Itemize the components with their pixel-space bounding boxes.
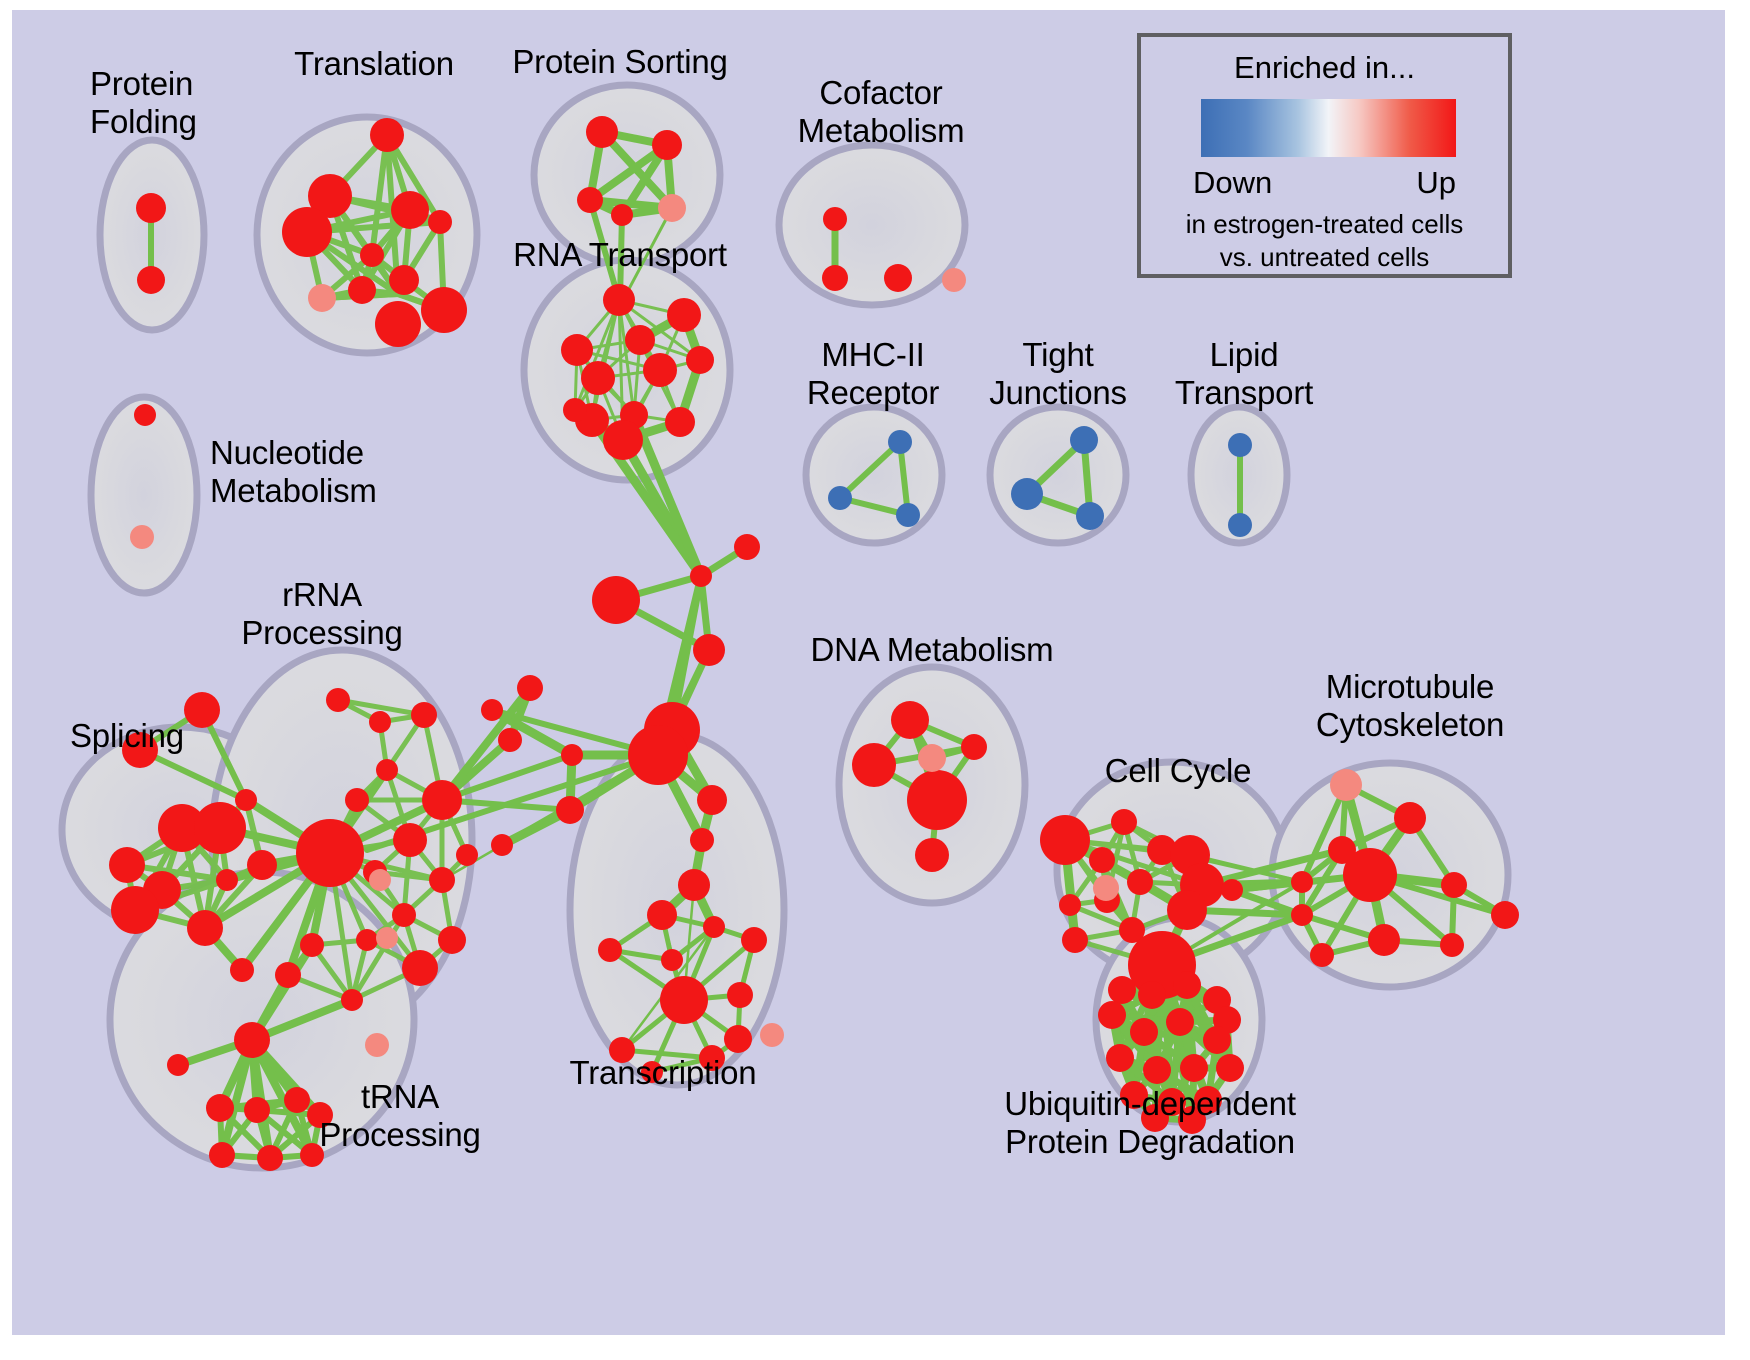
- node: [234, 1022, 270, 1058]
- node: [667, 298, 701, 332]
- node: [308, 284, 336, 312]
- node: [275, 962, 301, 988]
- hull-mhc-ii: [806, 407, 942, 543]
- node: [697, 785, 727, 815]
- node: [206, 1094, 234, 1122]
- cluster-label-protein-sorting: Protein Sorting: [512, 43, 727, 81]
- cluster-label-ubiquitin: Ubiquitin-dependentProtein Degradation: [1004, 1085, 1296, 1161]
- node: [1130, 1018, 1158, 1046]
- node: [678, 869, 710, 901]
- node: [376, 759, 398, 781]
- node: [235, 789, 257, 811]
- node: [658, 194, 686, 222]
- node: [822, 265, 848, 291]
- node: [727, 982, 753, 1008]
- node: [284, 1087, 310, 1113]
- node: [244, 1097, 270, 1123]
- node: [690, 828, 714, 852]
- node: [1108, 976, 1136, 1004]
- legend-subtitle-line2: vs. untreated cells: [1141, 242, 1508, 273]
- node: [1173, 971, 1201, 999]
- node: [376, 927, 398, 949]
- cluster-label-transcription: Transcription: [570, 1054, 757, 1092]
- legend-high-label: Up: [1416, 165, 1456, 201]
- node: [1106, 1044, 1134, 1072]
- node: [1330, 769, 1362, 801]
- node: [1011, 478, 1043, 510]
- legend-low-label: Down: [1193, 165, 1272, 201]
- cluster-label-splicing: Splicing: [70, 717, 184, 755]
- node: [136, 193, 166, 223]
- node: [1093, 875, 1119, 901]
- node: [111, 886, 159, 934]
- node: [888, 430, 912, 454]
- node: [852, 743, 896, 787]
- node: [134, 404, 156, 426]
- node: [896, 503, 920, 527]
- node: [907, 770, 967, 830]
- node: [429, 867, 455, 893]
- cluster-label-dna-metabolism: DNA Metabolism: [811, 631, 1054, 669]
- node: [1059, 894, 1081, 916]
- node: [561, 744, 583, 766]
- node: [603, 420, 643, 460]
- node: [137, 266, 165, 294]
- cluster-label-protein-folding: ProteinFolding: [90, 65, 197, 141]
- node: [563, 398, 587, 422]
- node: [375, 301, 421, 347]
- node: [184, 692, 220, 728]
- node: [556, 796, 584, 824]
- node: [1441, 872, 1467, 898]
- node: [611, 204, 633, 226]
- cluster-label-cofactor-metabolism: CofactorMetabolism: [798, 74, 965, 150]
- node: [690, 565, 712, 587]
- node: [247, 850, 277, 880]
- node: [109, 847, 145, 883]
- node: [365, 1033, 389, 1057]
- node: [391, 191, 429, 229]
- node: [438, 926, 466, 954]
- cluster-label-translation: Translation: [294, 45, 454, 83]
- node: [823, 207, 847, 231]
- node: [760, 1023, 784, 1047]
- node: [356, 929, 378, 951]
- cluster-label-cell-cycle: Cell Cycle: [1105, 752, 1252, 790]
- node: [1491, 901, 1519, 929]
- legend-title: Enriched in...: [1141, 50, 1508, 86]
- node: [1440, 933, 1464, 957]
- node: [370, 118, 404, 152]
- node: [187, 910, 223, 946]
- node: [194, 802, 246, 854]
- node: [216, 869, 238, 891]
- node: [1291, 871, 1313, 893]
- node: [130, 525, 154, 549]
- node: [561, 334, 593, 366]
- node: [942, 268, 966, 292]
- node: [1138, 981, 1166, 1009]
- node: [652, 130, 682, 160]
- node: [392, 903, 416, 927]
- node: [628, 725, 688, 785]
- node: [348, 276, 376, 304]
- node: [498, 728, 522, 752]
- node: [603, 284, 635, 316]
- node: [592, 576, 640, 624]
- cluster-label-mhc-ii-receptor: MHC-IIReceptor: [807, 336, 939, 412]
- node: [1216, 1054, 1244, 1082]
- node: [586, 116, 618, 148]
- cluster-label-lipid-transport: LipidTransport: [1175, 336, 1313, 412]
- node: [345, 788, 369, 812]
- node: [1111, 809, 1137, 835]
- node: [1368, 924, 1400, 956]
- node: [360, 243, 384, 267]
- node: [422, 780, 462, 820]
- node: [1228, 433, 1252, 457]
- node: [369, 869, 391, 891]
- node: [481, 699, 503, 721]
- node: [389, 265, 419, 295]
- node: [1228, 513, 1252, 537]
- node: [1089, 847, 1115, 873]
- node: [693, 634, 725, 666]
- node: [341, 989, 363, 1011]
- node: [517, 675, 543, 701]
- node: [665, 407, 695, 437]
- node: [428, 210, 452, 234]
- cluster-label-rrna-processing: rRNAProcessing: [241, 576, 402, 652]
- node: [1221, 879, 1243, 901]
- node: [1098, 1001, 1126, 1029]
- node: [1166, 1008, 1194, 1036]
- node: [1167, 890, 1207, 930]
- node: [282, 207, 332, 257]
- node: [369, 711, 391, 733]
- node: [411, 702, 437, 728]
- node: [660, 976, 708, 1024]
- node: [661, 949, 683, 971]
- node: [915, 838, 949, 872]
- node: [402, 950, 438, 986]
- node: [393, 823, 427, 857]
- node: [230, 958, 254, 982]
- node: [918, 744, 946, 772]
- node: [1343, 848, 1397, 902]
- node: [598, 938, 622, 962]
- node: [703, 916, 725, 938]
- node: [167, 1054, 189, 1076]
- node: [1203, 1026, 1231, 1054]
- node: [421, 287, 467, 333]
- node: [1062, 927, 1088, 953]
- node: [891, 701, 929, 739]
- node: [491, 834, 513, 856]
- node: [456, 844, 478, 866]
- node: [625, 325, 655, 355]
- cluster-label-trna-processing: tRNAProcessing: [319, 1078, 480, 1154]
- network-panel: ProteinFolding Translation Protein Sorti…: [12, 10, 1725, 1335]
- node: [577, 187, 603, 213]
- node: [1076, 502, 1104, 530]
- node: [741, 927, 767, 953]
- node: [647, 900, 677, 930]
- node: [581, 361, 615, 395]
- cluster-label-rna-transport: RNA Transport: [513, 236, 727, 274]
- cluster-label-microtubule-cytoskeleton: MicrotubuleCytoskeleton: [1316, 668, 1504, 744]
- node: [209, 1142, 235, 1168]
- node: [326, 688, 350, 712]
- legend-subtitle-line1: in estrogen-treated cells: [1141, 209, 1508, 240]
- node: [1070, 426, 1098, 454]
- node: [300, 933, 324, 957]
- node: [1310, 943, 1334, 967]
- cluster-label-nucleotide-metabolism: NucleotideMetabolism: [210, 434, 377, 510]
- node: [257, 1145, 283, 1171]
- node: [828, 486, 852, 510]
- node: [643, 353, 677, 387]
- hull-nucleotide-metabolism: [91, 397, 197, 593]
- hull-tight-junctions: [990, 407, 1126, 543]
- node: [961, 734, 987, 760]
- node: [724, 1025, 752, 1053]
- figure-canvas: ProteinFolding Translation Protein Sorti…: [0, 0, 1750, 1360]
- node: [884, 264, 912, 292]
- legend-box: Enriched in... Down Up in estrogen-treat…: [1137, 33, 1512, 278]
- node: [1040, 815, 1090, 865]
- legend-color-gradient-bar: [1201, 99, 1456, 157]
- node: [686, 346, 714, 374]
- hull-cofactor-metabolism: [779, 145, 965, 305]
- node: [1180, 1054, 1208, 1082]
- node: [1127, 869, 1153, 895]
- node: [1394, 802, 1426, 834]
- node: [1291, 904, 1313, 926]
- node: [296, 819, 364, 887]
- node: [1143, 1056, 1171, 1084]
- node: [734, 534, 760, 560]
- cluster-label-tight-junctions: TightJunctions: [989, 336, 1127, 412]
